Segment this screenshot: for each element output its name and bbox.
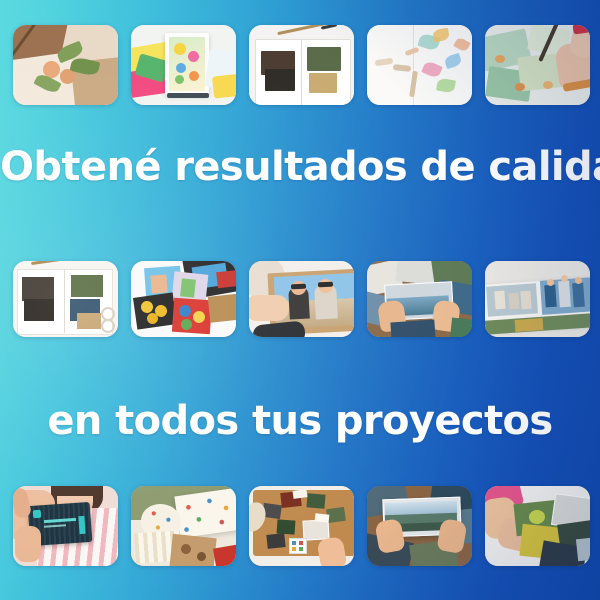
thumbnail-row-top <box>0 25 600 105</box>
thumbnail-floral-card[interactable] <box>131 25 236 105</box>
thumbnail-business-card[interactable] <box>13 486 118 566</box>
promo-poster: Obtené resultados de calidad <box>0 0 600 600</box>
thumbnail-row-bottom <box>0 486 600 566</box>
thumbnail-photo-book[interactable] <box>485 261 590 337</box>
headline-primary: Obtené resultados de calidad <box>0 147 600 187</box>
thumbnail-photo-card-stack[interactable] <box>131 261 236 337</box>
thumbnail-spread-prints[interactable] <box>485 486 590 566</box>
thumbnail-sorting-prints[interactable] <box>367 261 472 337</box>
thumbnail-kraft-envelopes[interactable] <box>13 25 118 105</box>
thumbnail-notebook-photos[interactable] <box>249 25 354 105</box>
thumbnail-framed-photo[interactable] <box>249 261 354 337</box>
headline-secondary: en todos tus proyectos <box>0 401 600 441</box>
thumbnail-hands-painting[interactable] <box>485 25 590 105</box>
thumbnail-scrapbook-album[interactable] <box>13 261 118 337</box>
thumbnail-desk-stationery[interactable] <box>367 25 472 105</box>
thumbnail-cork-board[interactable] <box>249 486 354 566</box>
thumbnail-row-middle <box>0 261 600 337</box>
thumbnail-gift-boxes[interactable] <box>131 486 236 566</box>
thumbnail-panoramic-print[interactable] <box>367 486 472 566</box>
